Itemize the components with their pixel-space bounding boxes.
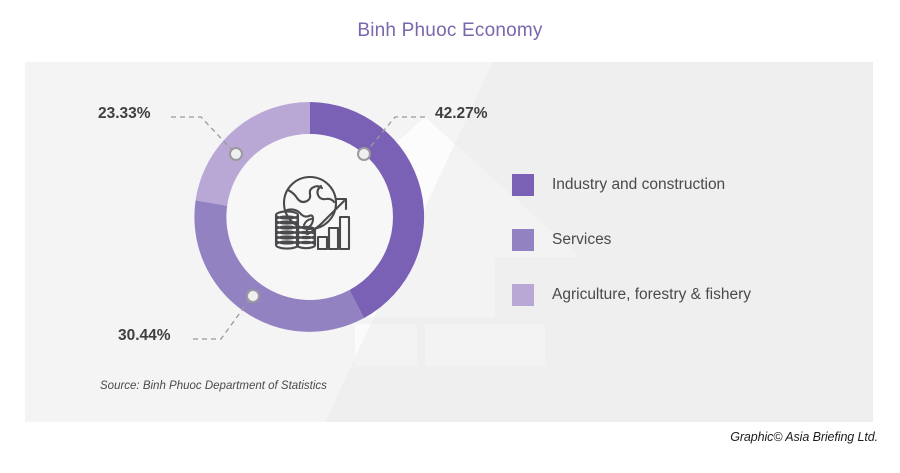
legend-swatch-services	[512, 229, 534, 251]
source-note: Source: Binh Phuoc Department of Statist…	[100, 380, 327, 392]
economy-globe-coins-chart-icon	[258, 165, 362, 269]
page-title: Binh Phuoc Economy	[0, 20, 900, 42]
legend-label-industry: Industry and construction	[552, 176, 725, 194]
callout-value-agriculture: 23.33%	[98, 105, 151, 123]
legend-item-services[interactable]: Services	[512, 212, 852, 267]
callout-value-services: 30.44%	[118, 327, 171, 345]
chart-legend: Industry and construction Services Agric…	[512, 157, 852, 322]
chart-panel: 23.33% 42.27% 30.44% Industry and constr…	[25, 62, 873, 422]
legend-item-agriculture[interactable]: Agriculture, forestry & fishery	[512, 267, 852, 322]
graphic-credit: Graphic© Asia Briefing Ltd.	[730, 430, 878, 444]
callout-value-industry: 42.27%	[435, 105, 488, 123]
legend-swatch-agriculture	[512, 284, 534, 306]
donut-chart	[180, 87, 440, 347]
legend-swatch-industry	[512, 174, 534, 196]
legend-label-agriculture: Agriculture, forestry & fishery	[552, 286, 751, 304]
legend-label-services: Services	[552, 231, 611, 249]
legend-item-industry[interactable]: Industry and construction	[512, 157, 852, 212]
